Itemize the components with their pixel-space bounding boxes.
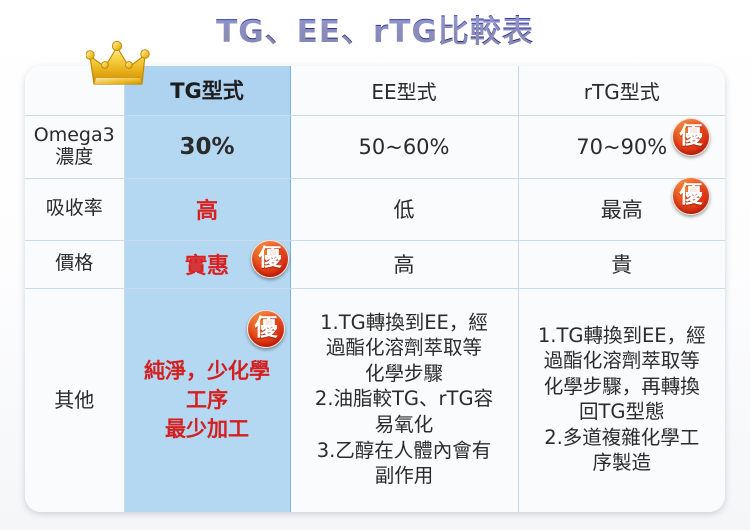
- cell-omega3-ee: 50~60%: [290, 115, 518, 178]
- cell-omega3-tg: 30%: [124, 115, 290, 178]
- value-other-tg-line3: 最少加工: [129, 415, 286, 444]
- other-ee-line-4: 2.油脂較TG、rTG容: [295, 387, 514, 412]
- excellence-badge-omega3-rtg: 優: [672, 118, 710, 156]
- other-rtg-line-6: 序製造: [523, 451, 722, 476]
- cell-other-ee: 1.TG轉換到EE，經 過酯化溶劑萃取等 化學步驟 2.油脂較TG、rTG容 易…: [290, 288, 518, 512]
- value-absorption-ee: 低: [394, 198, 415, 222]
- comparison-infographic: TG、EE、rTG比較表 TG型式 EE型式 rTG型式: [0, 0, 750, 530]
- row-label-price: 價格: [25, 240, 124, 288]
- header-label-tg: TG型式: [170, 79, 244, 103]
- value-price-ee: 高: [394, 253, 415, 277]
- row-label-omega3-line1: Omega3: [29, 125, 120, 147]
- other-rtg-line-1: 1.TG轉換到EE，經: [523, 324, 722, 349]
- header-label-rtg: rTG型式: [584, 80, 660, 104]
- cell-price-ee: 高: [290, 240, 518, 288]
- header-cell-rtg: rTG型式: [518, 66, 725, 115]
- header-cell-ee: EE型式: [290, 66, 518, 115]
- value-omega3-ee: 50~60%: [359, 135, 450, 159]
- other-rtg-line-4: 回TG型態: [523, 400, 722, 425]
- value-omega3-tg: 30%: [179, 134, 234, 160]
- value-other-tg-line1: 純淨，少化學: [129, 357, 286, 386]
- excellence-badge-price-tg: 優: [251, 240, 289, 278]
- excellence-badge-absorption-rtg: 優: [672, 177, 710, 215]
- cell-absorption-ee: 低: [290, 178, 518, 240]
- cell-absorption-tg: 高: [124, 178, 290, 240]
- value-omega3-rtg: 70~90%: [576, 135, 667, 159]
- value-price-tg: 實惠: [185, 254, 229, 279]
- comparison-table-container: TG型式 EE型式 rTG型式 Omega3 濃度: [25, 66, 725, 512]
- other-ee-line-3: 化學步驟: [295, 362, 514, 387]
- cell-other-rtg: 1.TG轉換到EE，經 過酯化溶劑萃取等 化學步驟，再轉換 回TG型態 2.多道…: [518, 288, 725, 512]
- table-row-other: 其他 純淨，少化學 工序 最少加工 1.TG轉換到EE，經 過酯化溶劑萃取等 化…: [25, 288, 725, 512]
- row-label-absorption: 吸收率: [25, 178, 124, 240]
- other-rtg-line-3: 化學步驟，再轉換: [523, 375, 722, 400]
- table-row-price: 價格 實惠 高 貴: [25, 240, 725, 288]
- table-row-omega3: Omega3 濃度 30% 50~60% 70~90%: [25, 115, 725, 178]
- other-ee-line-5: 易氧化: [295, 413, 514, 438]
- other-rtg-line-2: 過酯化溶劑萃取等: [523, 349, 722, 374]
- comparison-table: TG型式 EE型式 rTG型式 Omega3 濃度: [25, 66, 725, 512]
- other-rtg-line-5: 2.多道複雜化學工: [523, 426, 722, 451]
- cell-price-rtg: 貴: [518, 240, 725, 288]
- value-absorption-rtg: 最高: [601, 198, 643, 222]
- crown-icon: [86, 40, 164, 88]
- header-label-ee: EE型式: [371, 80, 436, 104]
- value-price-rtg: 貴: [611, 253, 632, 277]
- value-other-tg-line2: 工序: [129, 386, 286, 415]
- other-ee-line-7: 副作用: [295, 464, 514, 489]
- row-label-omega3: Omega3 濃度: [25, 115, 124, 178]
- other-ee-line-1: 1.TG轉換到EE，經: [295, 311, 514, 336]
- row-label-omega3-line2: 濃度: [29, 147, 120, 169]
- excellence-badge-other-tg: 優: [247, 310, 285, 348]
- value-absorption-tg: 高: [196, 199, 218, 224]
- table-row-absorption: 吸收率 高 低 最高: [25, 178, 725, 240]
- other-ee-line-6: 3.乙醇在人體內會有: [295, 439, 514, 464]
- row-label-other: 其他: [25, 288, 124, 512]
- other-ee-line-2: 過酯化溶劑萃取等: [295, 336, 514, 361]
- value-other-tg: 純淨，少化學 工序 最少加工: [129, 357, 286, 444]
